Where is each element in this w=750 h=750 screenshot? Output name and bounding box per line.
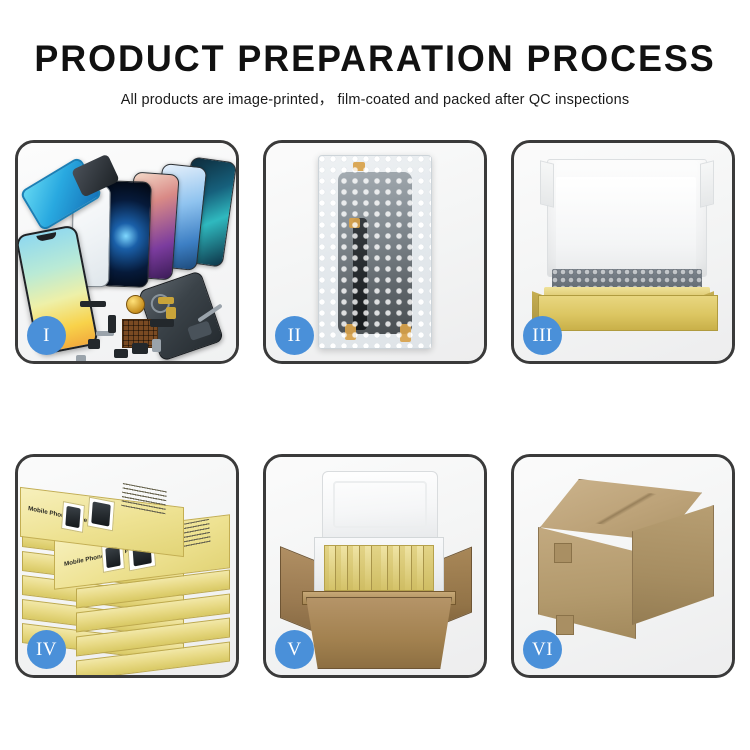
page-subtitle: All products are image-printed， film-coa… <box>0 88 750 109</box>
box-print-left-left <box>61 501 85 533</box>
bubble-wrap-bag-icon <box>318 155 432 349</box>
tape-mid-icon <box>349 218 360 228</box>
tape-bottom-left-icon <box>345 324 356 340</box>
page-title: PRODUCT PREPARATION PROCESS <box>11 40 739 77</box>
wrapped-screen-icon <box>338 172 412 334</box>
carton-tape-upper-icon <box>554 543 572 563</box>
part-flex-tail-icon <box>166 307 176 319</box>
carton-tape-lower-icon <box>556 615 574 635</box>
step-badge-6: VI <box>523 630 562 669</box>
part-sim-tray-icon <box>152 339 161 352</box>
process-step-2: II <box>263 140 487 364</box>
step-badge-3: III <box>523 316 562 355</box>
tape-bottom-right-icon <box>400 324 411 342</box>
box-front-icon <box>538 295 718 331</box>
part-connector-icon <box>88 339 100 349</box>
sealed-carton-front-icon <box>538 527 636 639</box>
process-step-grid: I II III <box>15 140 735 678</box>
process-step-4: Mobile Phone Spare Parts Mobile Phone Sp… <box>15 454 239 678</box>
part-flex-cable-icon <box>158 297 174 304</box>
wrapped-flex-cable-icon <box>353 218 367 330</box>
process-step-5: V <box>263 454 487 678</box>
process-step-3: III <box>511 140 735 364</box>
page-header: PRODUCT PREPARATION PROCESS All products… <box>0 0 750 109</box>
packed-boxes-icon <box>324 545 434 591</box>
box-print-right-left <box>87 497 115 532</box>
step-badge-4: IV <box>27 630 66 669</box>
process-step-1: I <box>15 140 239 364</box>
part-vibrator-icon <box>76 355 86 361</box>
tape-top-icon <box>353 162 365 171</box>
speaker-module-icon <box>126 295 145 314</box>
part-button-icon <box>114 349 128 358</box>
part-camera-icon <box>132 343 148 354</box>
styrofoam-lid-icon <box>322 471 438 543</box>
process-step-6: VI <box>511 454 735 678</box>
part-antenna-icon <box>150 319 174 327</box>
step-badge-1: I <box>27 316 66 355</box>
foam-sheet-icon <box>556 177 696 273</box>
part-bracket-icon <box>80 301 106 307</box>
carton-body-icon <box>306 597 452 669</box>
part-flexstrip-icon <box>108 315 116 333</box>
step-badge-2: II <box>275 316 314 355</box>
step-badge-5: V <box>275 630 314 669</box>
